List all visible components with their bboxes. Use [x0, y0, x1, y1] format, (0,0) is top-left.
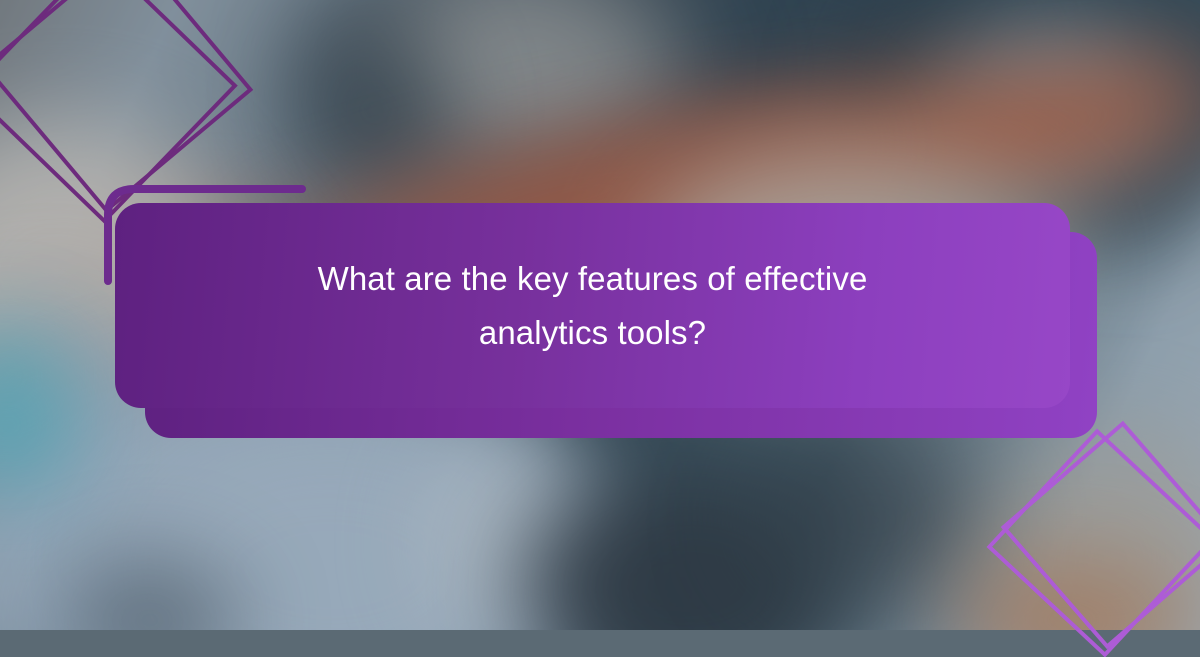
rotated-square-icon: [1001, 421, 1200, 650]
page-title: What are the key features of effective a…: [273, 252, 913, 359]
question-card: What are the key features of effective a…: [115, 203, 1070, 408]
decorative-squares-bottom-right: [998, 440, 1200, 650]
